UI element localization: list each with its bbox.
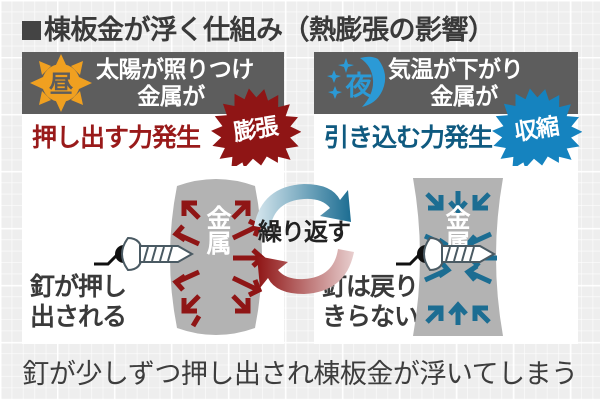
panel-day-caption-line1: 釘が押し bbox=[30, 272, 126, 302]
metal-label-day: 金属 bbox=[204, 205, 230, 255]
moon-icon: 夜 bbox=[322, 54, 390, 112]
sun-icon: 昼 bbox=[30, 54, 92, 112]
infographic-stage: 棟板金が浮く仕組み（熱膨張の影響） 昼 太陽が照りつけ 金属が 押し出す力発生 bbox=[0, 0, 600, 400]
page-title: 棟板金が浮く仕組み（熱膨張の影響） bbox=[22, 8, 495, 47]
panel-night-caption-line2: きらない bbox=[322, 302, 418, 332]
badge-expansion bbox=[209, 88, 301, 166]
panel-night-force-text: 引き込む力発生 bbox=[324, 118, 492, 154]
sun-icon-glyph: 昼 bbox=[49, 71, 73, 98]
page-title-text: 棟板金が浮く仕組み（熱膨張の影響） bbox=[44, 15, 495, 45]
square-bullet-icon bbox=[22, 21, 41, 40]
cycle-arrow-bottom bbox=[257, 249, 354, 294]
panel-night-header-line1: 気温が下がり bbox=[388, 56, 523, 82]
nail-icon-night bbox=[394, 232, 498, 276]
panel-day-header-line1: 太陽が照りつけ bbox=[96, 56, 254, 82]
panel-day-caption-line2: 出される bbox=[30, 302, 126, 332]
panel-day-force-text: 押し出す力発生 bbox=[32, 118, 200, 154]
badge-contraction bbox=[490, 88, 582, 166]
bottom-caption: 釘が少しずつ押し出され棟板金が浮いてしまう bbox=[0, 352, 600, 391]
moon-icon-glyph: 夜 bbox=[345, 71, 374, 101]
panel-day-caption: 釘が押し 出される bbox=[30, 272, 126, 332]
nail-icon-day bbox=[92, 232, 196, 276]
cycle-label: 繰り返す bbox=[252, 212, 356, 247]
